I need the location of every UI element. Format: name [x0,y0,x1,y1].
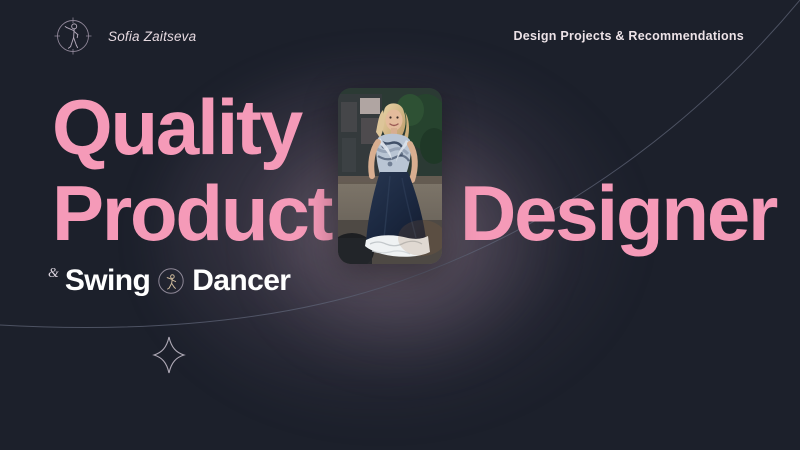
header-tagline: Design Projects & Recommendations [513,29,744,43]
subline-word-swing: Swing [65,264,150,298]
slide-header: Sofia Zaitseva Design Projects & Recomme… [0,0,800,72]
dancer-badge-icon [157,267,185,295]
ampersand: & [48,266,59,282]
subline-word-dancer: Dancer [192,264,290,298]
headline-word-designer: Designer [460,170,776,256]
profile-photo [338,88,442,264]
profile-photo-card [338,88,442,264]
subline-block: & Swing Dancer [48,264,290,298]
brand-name: Sofia Zaitseva [108,29,196,44]
four-point-sparkle-icon [154,337,184,373]
presentation-slide: Sofia Zaitseva Design Projects & Recomme… [0,0,800,450]
dancer-in-circle-logo-icon [52,15,94,57]
headline-word-product: Product [52,169,331,257]
brand[interactable]: Sofia Zaitseva [52,15,196,57]
